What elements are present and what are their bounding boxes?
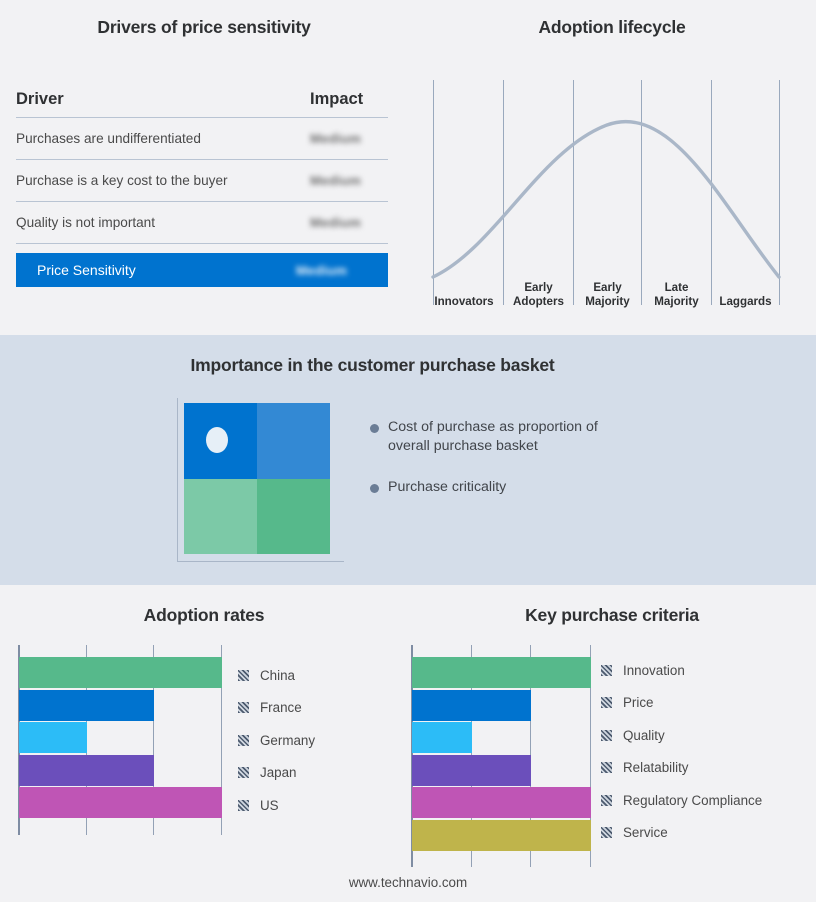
bar-germany <box>19 722 87 753</box>
hatch-swatch-icon <box>601 697 612 708</box>
lifecycle-stage-labels: Innovators EarlyAdopters EarlyMajority L… <box>425 272 795 308</box>
lifecycle-stage-late-majority: LateMajority <box>642 281 711 308</box>
legend-label: Innovation <box>623 663 685 678</box>
key-purchase-criteria-legend: InnovationPriceQualityRelatabilityRegula… <box>601 654 811 849</box>
lifecycle-stage-innovators: Innovators <box>425 295 503 309</box>
bar-china <box>19 657 222 688</box>
list-item: Regulatory Compliance <box>601 784 811 817</box>
column-header-driver: Driver <box>16 90 64 109</box>
legend-label: US <box>260 798 279 813</box>
list-item: Germany <box>238 724 388 757</box>
adoption-rates-legend: ChinaFranceGermanyJapanUS <box>238 659 388 822</box>
column-header-impact: Impact <box>310 90 388 109</box>
table-row: Quality is not important Medium <box>16 202 388 244</box>
bar-price <box>412 690 531 721</box>
list-item: Innovation <box>601 654 811 687</box>
price-sensitivity-summary-row: Price Sensitivity Medium <box>16 253 388 287</box>
key-purchase-criteria-chart <box>411 645 591 867</box>
quadrant-matrix <box>184 403 330 554</box>
legend-label: Germany <box>260 733 315 748</box>
hatch-swatch-icon <box>601 665 612 676</box>
list-item: Service <box>601 817 811 850</box>
legend-label: France <box>260 700 302 715</box>
bar-service <box>412 820 591 851</box>
impact-value: Medium <box>310 131 388 146</box>
bar-quality <box>412 722 472 753</box>
key-purchase-criteria-title: Key purchase criteria <box>408 605 816 626</box>
hatch-swatch-icon <box>601 762 612 773</box>
bullet-icon <box>370 484 379 493</box>
hatch-swatch-icon <box>601 795 612 806</box>
bar-us <box>19 787 222 818</box>
hatch-swatch-icon <box>601 827 612 838</box>
table-row: Purchases are undifferentiated Medium <box>16 118 388 160</box>
lifecycle-stage-early-majority: EarlyMajority <box>574 281 641 308</box>
list-item: France <box>238 692 388 725</box>
list-item: Cost of purchase as proportion of overal… <box>370 418 670 456</box>
summary-label: Price Sensitivity <box>37 262 136 278</box>
table-header-row: Driver Impact <box>16 90 388 118</box>
hatch-swatch-icon <box>238 767 249 778</box>
drivers-table: Driver Impact Purchases are undifferenti… <box>16 90 388 287</box>
legend-label: Service <box>623 825 668 840</box>
driver-label: Purchase is a key cost to the buyer <box>16 173 228 188</box>
legend-label: Regulatory Compliance <box>623 793 762 808</box>
list-item: Relatability <box>601 752 811 785</box>
bullet-icon <box>370 424 379 433</box>
hatch-swatch-icon <box>238 735 249 746</box>
list-item: Quality <box>601 719 811 752</box>
quadrant-y-axis <box>177 398 178 562</box>
quadrant-bottom-right <box>257 479 330 555</box>
list-item: China <box>238 659 388 692</box>
legend-label: Cost of purchase as proportion of overal… <box>388 418 640 456</box>
legend-label: Quality <box>623 728 665 743</box>
adoption-rates-title: Adoption rates <box>0 605 408 626</box>
adoption-rates-chart <box>18 645 228 845</box>
hatch-swatch-icon <box>238 670 249 681</box>
list-item: Purchase criticality <box>370 478 670 497</box>
impact-value: Medium <box>310 173 388 188</box>
table-row: Purchase is a key cost to the buyer Medi… <box>16 160 388 202</box>
position-marker <box>206 427 228 453</box>
list-item: Japan <box>238 757 388 790</box>
legend-label: Purchase criticality <box>388 478 506 497</box>
list-item: Price <box>601 687 811 720</box>
bar-japan <box>19 755 154 786</box>
legend-label: Price <box>623 695 654 710</box>
drivers-title: Drivers of price sensitivity <box>0 17 408 38</box>
bar-relatability <box>412 755 531 786</box>
lifecycle-title: Adoption lifecycle <box>408 17 816 38</box>
legend-label: Japan <box>260 765 296 780</box>
footer-url: www.technavio.com <box>0 875 816 890</box>
lifecycle-stage-laggards: Laggards <box>712 295 779 309</box>
bar-innovation <box>412 657 591 688</box>
hatch-swatch-icon <box>238 702 249 713</box>
quadrant-bottom-left <box>184 479 257 555</box>
importance-legend: Cost of purchase as proportion of overal… <box>370 418 670 519</box>
hatch-swatch-icon <box>238 800 249 811</box>
hatch-swatch-icon <box>601 730 612 741</box>
importance-title: Importance in the customer purchase bask… <box>0 355 745 376</box>
lifecycle-stage-early-adopters: EarlyAdopters <box>504 281 573 308</box>
bar-regulatory-compliance <box>412 787 591 818</box>
summary-impact-value: Medium <box>296 263 374 278</box>
impact-value: Medium <box>310 215 388 230</box>
driver-label: Quality is not important <box>16 215 155 230</box>
legend-label: Relatability <box>623 760 689 775</box>
quadrant-x-axis <box>177 561 344 562</box>
bar-france <box>19 690 154 721</box>
legend-label: China <box>260 668 295 683</box>
driver-label: Purchases are undifferentiated <box>16 131 201 146</box>
quadrant-top-right <box>257 403 330 479</box>
list-item: US <box>238 789 388 822</box>
